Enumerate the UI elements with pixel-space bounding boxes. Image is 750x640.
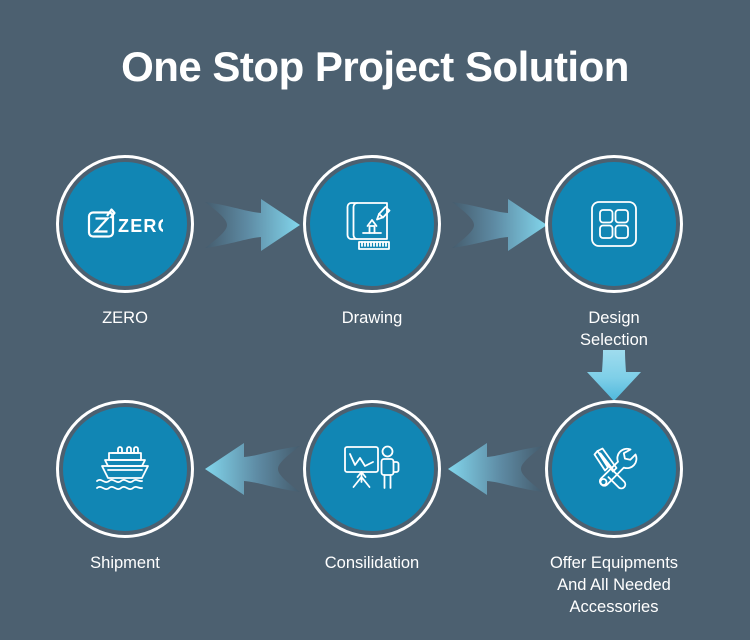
- step-node-shipment[interactable]: Shipment: [45, 407, 205, 575]
- presentation-chart-person-icon: [342, 441, 402, 497]
- cargo-ship-icon: [92, 441, 158, 497]
- step-circle-shipment[interactable]: [63, 407, 187, 531]
- step-node-drawing[interactable]: Drawing: [292, 162, 452, 330]
- step-label-design-selection: Design Selection: [534, 308, 694, 352]
- step-label-offer-equipments: Offer Equipments And All Needed Accessor…: [534, 553, 694, 619]
- svg-text:ZERO: ZERO: [118, 216, 163, 236]
- grid-squares-icon: [589, 199, 639, 249]
- wrench-screwdriver-icon: [586, 441, 642, 497]
- page-title: One Stop Project Solution: [0, 44, 750, 90]
- step-node-offer-equipments[interactable]: Offer Equipments And All Needed Accessor…: [534, 407, 694, 619]
- step-circle-zero[interactable]: ZERO: [63, 162, 187, 286]
- arrow-consilidation-to-shipment: [205, 440, 301, 498]
- step-node-design-selection[interactable]: Design Selection: [534, 162, 694, 352]
- step-label-consilidation: Consilidation: [292, 553, 452, 575]
- step-circle-design-selection[interactable]: [552, 162, 676, 286]
- step-circle-consilidation[interactable]: [310, 407, 434, 531]
- step-label-shipment: Shipment: [45, 553, 205, 575]
- arrow-design-to-offer: [583, 350, 645, 402]
- step-label-zero: ZERO: [45, 308, 205, 330]
- infographic-canvas: One Stop Project Solution ZERO ZERO: [0, 0, 750, 640]
- step-node-zero[interactable]: ZERO ZERO: [45, 162, 205, 330]
- step-circle-offer-equipments[interactable]: [552, 407, 676, 531]
- arrow-offer-to-consilidation: [448, 440, 544, 498]
- blueprint-pencil-icon: [343, 195, 401, 253]
- zero-logo-icon: ZERO: [87, 207, 163, 241]
- arrow-zero-to-drawing: [205, 196, 301, 254]
- step-circle-drawing[interactable]: [310, 162, 434, 286]
- step-node-consilidation[interactable]: Consilidation: [292, 407, 452, 575]
- step-label-drawing: Drawing: [292, 308, 452, 330]
